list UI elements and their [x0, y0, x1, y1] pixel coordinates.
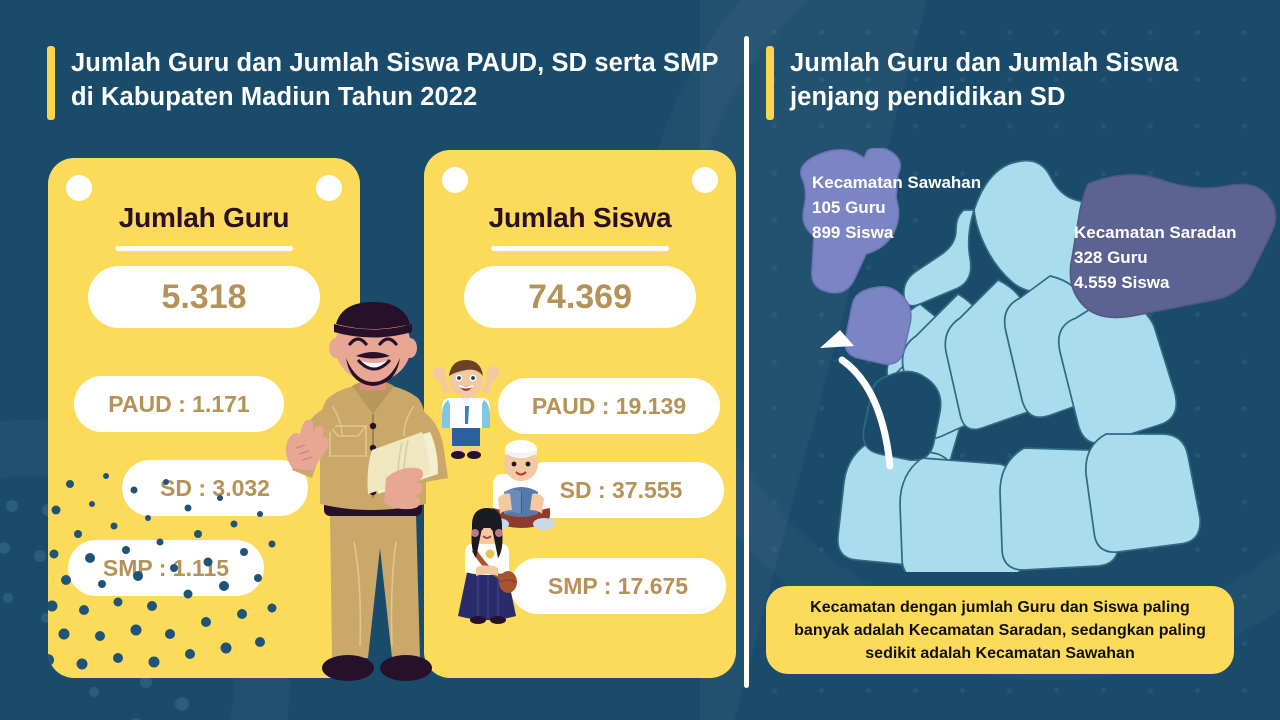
card-hole-left-icon-2: [442, 167, 468, 193]
guru-sd-value: SD : 3.032: [122, 460, 308, 516]
right-title-block: Jumlah Guru dan Jumlah Siswa jenjang pen…: [766, 46, 1236, 120]
map-label-sawahan: Kecamatan Sawahan 105 Guru 899 Siswa: [812, 170, 981, 245]
stat-card-guru: Jumlah Guru 5.318 PAUD : 1.171 SD : 3.03…: [48, 158, 360, 678]
page-title-left: Jumlah Guru dan Jumlah Siswa PAUD, SD se…: [71, 46, 727, 114]
guru-total-value: 5.318: [88, 266, 320, 328]
district-sawahan-insitu: [845, 287, 911, 364]
map-caption-box: Kecamatan dengan jumlah Guru dan Siswa p…: [766, 586, 1234, 674]
card-rule-siswa: [491, 246, 669, 251]
stat-card-siswa: Jumlah Siswa 74.369 PAUD : 19.139 SD : 3…: [424, 150, 736, 678]
sawahan-guru: 105 Guru: [812, 195, 981, 220]
sawahan-siswa: 899 Siswa: [812, 220, 981, 245]
siswa-paud-value: PAUD : 19.139: [498, 378, 720, 434]
card-hole-right-icon-2: [692, 167, 718, 193]
card-title-siswa: Jumlah Siswa: [424, 202, 736, 234]
guru-paud-value: PAUD : 1.171: [74, 376, 284, 432]
district-east: [1059, 298, 1177, 443]
guru-smp-value: SMP : 1.115: [68, 540, 264, 596]
siswa-smp-value: SMP : 17.675: [510, 558, 726, 614]
madiun-city-enclave: [863, 371, 940, 460]
card-title-guru: Jumlah Guru: [48, 202, 360, 234]
saradan-name: Kecamatan Saradan: [1074, 220, 1237, 245]
map-caption-text: Kecamatan dengan jumlah Guru dan Siswa p…: [784, 596, 1216, 665]
card-rule-guru: [115, 246, 293, 251]
left-title-block: Jumlah Guru dan Jumlah Siswa PAUD, SD se…: [47, 46, 727, 120]
sawahan-name: Kecamatan Sawahan: [812, 170, 981, 195]
map-label-saradan: Kecamatan Saradan 328 Guru 4.559 Siswa: [1074, 220, 1237, 295]
page-title-right: Jumlah Guru dan Jumlah Siswa jenjang pen…: [790, 46, 1236, 114]
siswa-total-value: 74.369: [464, 266, 696, 328]
district-southeast: [1086, 434, 1200, 552]
title-accent-bar: [47, 46, 55, 120]
siswa-sd-value: SD : 37.555: [518, 462, 724, 518]
title-accent-bar-right: [766, 46, 774, 120]
card-hole-left-icon: [66, 175, 92, 201]
infographic-root: Jumlah Guru dan Jumlah Siswa PAUD, SD se…: [0, 0, 1280, 720]
card-hole-right-icon: [316, 175, 342, 201]
vertical-divider: [744, 36, 749, 688]
saradan-siswa: 4.559 Siswa: [1074, 270, 1237, 295]
saradan-guru: 328 Guru: [1074, 245, 1237, 270]
